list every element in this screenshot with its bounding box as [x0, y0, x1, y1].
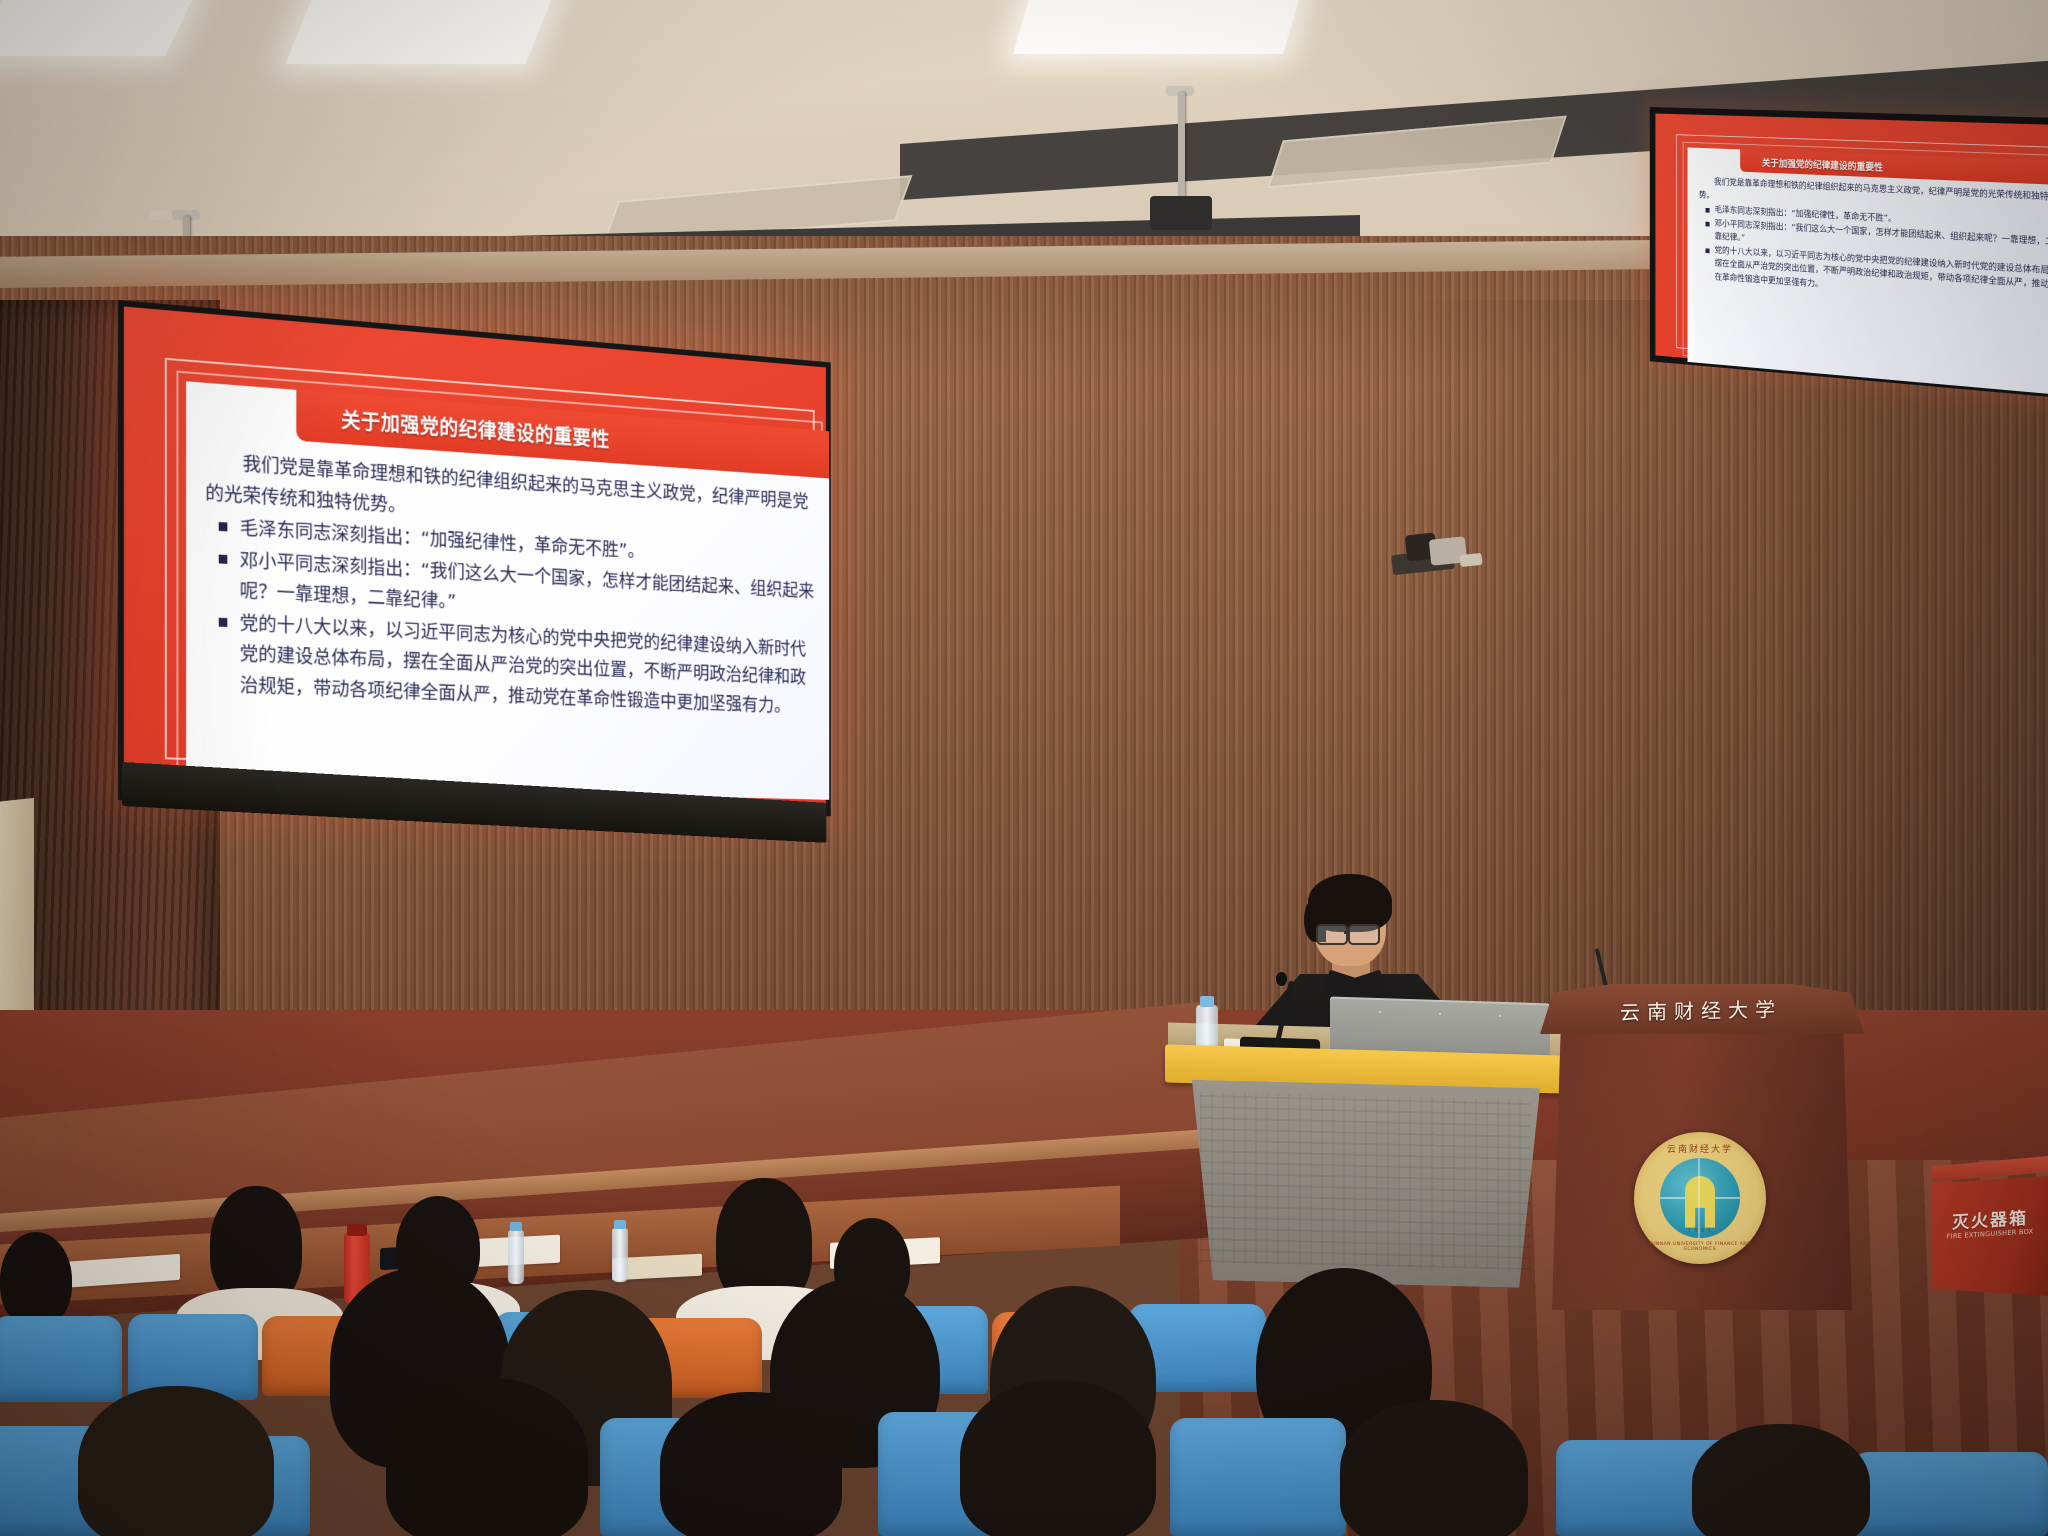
desk-water-bottle-cap [510, 1222, 522, 1231]
secondary-monitor[interactable]: 关于加强党的纪律建设的重要性 我们党是靠革命理想和铁的纪律组织起来的马克思主义政… [1650, 107, 2048, 398]
emblem-globe-icon [1660, 1158, 1740, 1238]
emblem-gate-icon [1685, 1176, 1715, 1228]
slide-left-stripe [186, 381, 201, 784]
monitor-slide-body: 我们党是靠革命理想和铁的纪律组织起来的马克思主义政党，纪律严明是党的光荣传统和独… [1699, 175, 2048, 394]
projector-mount-rod [1178, 92, 1185, 202]
seat[interactable] [0, 1316, 122, 1402]
ceiling-light-panel [0, 0, 195, 56]
ceiling-light-panel [285, 0, 554, 64]
projector-icon [1150, 196, 1212, 230]
emblem-chinese-name: 云南财经大学 [1634, 1142, 1766, 1155]
desk-water-bottle [612, 1228, 628, 1282]
water-bottle-cap [1200, 996, 1214, 1007]
seat[interactable] [1852, 1452, 2048, 1536]
monitor-slide-left-stripe [1688, 147, 1695, 362]
smoke-detector-icon [150, 210, 172, 220]
ceiling-light-panel [1013, 0, 1301, 54]
desk-red-thermos-cap [347, 1224, 367, 1236]
camera-mount-arm [1459, 553, 1482, 567]
podium-university-name: 云南财经大学 [1556, 992, 1846, 1027]
desk-water-bottle-cap [614, 1220, 626, 1229]
emblem-founding-year: 1 9 5 1 [1634, 1228, 1766, 1234]
desk-water-bottle [508, 1230, 524, 1284]
glasses-icon [1316, 924, 1348, 945]
university-emblem: 云南财经大学 1 9 5 1 YUNNAN UNIVERSITY OF FINA… [1634, 1132, 1766, 1264]
lecture-hall-scene: 关于加强党的纪律建设的重要性 我们党是靠革命理想和铁的纪律组织起来的马克思主义政… [0, 0, 2048, 1536]
glasses-icon [1348, 924, 1380, 945]
microphone-icon [1276, 972, 1287, 986]
audience-head [386, 1378, 588, 1536]
monitor-slide-content-card: 关于加强党的纪律建设的重要性 我们党是靠革命理想和铁的纪律组织起来的马克思主义政… [1688, 147, 2048, 395]
lectern-perforation-texture [1200, 1092, 1530, 1270]
slide-red-background: 关于加强党的纪律建设的重要性 我们党是靠革命理想和铁的纪律组织起来的马克思主义政… [124, 307, 826, 811]
emblem-english-name: YUNNAN UNIVERSITY OF FINANCE AND ECONOMI… [1634, 1242, 1766, 1252]
slide-content-card: 关于加强党的纪律建设的重要性 我们党是靠革命理想和铁的纪律组织起来的马克思主义政… [186, 381, 829, 800]
audience-head [1340, 1400, 1528, 1536]
audience-head [78, 1386, 274, 1536]
audience-head [1692, 1424, 1870, 1536]
audience-head [960, 1380, 1156, 1536]
monitor-slide-title: 关于加强党的纪律建设的重要性 [1762, 154, 1883, 173]
seat[interactable] [1170, 1418, 1346, 1536]
wall-right-shadow [1380, 300, 2048, 1060]
audience-head [660, 1392, 842, 1536]
audience-head [0, 1232, 72, 1328]
projection-screen[interactable]: 关于加强党的纪律建设的重要性 我们党是靠革命理想和铁的纪律组织起来的马克思主义政… [118, 300, 831, 816]
glasses-bridge [1344, 931, 1350, 934]
monitor-slide-red-background: 关于加强党的纪律建设的重要性 我们党是靠革命理想和铁的纪律组织起来的马克思主义政… [1655, 114, 2048, 391]
slide-body: 我们党是靠革命理想和铁的纪律组织起来的马克思主义政党，纪律严明是党的光荣传统和独… [205, 446, 821, 796]
slide-title: 关于加强党的纪律建设的重要性 [341, 404, 610, 453]
